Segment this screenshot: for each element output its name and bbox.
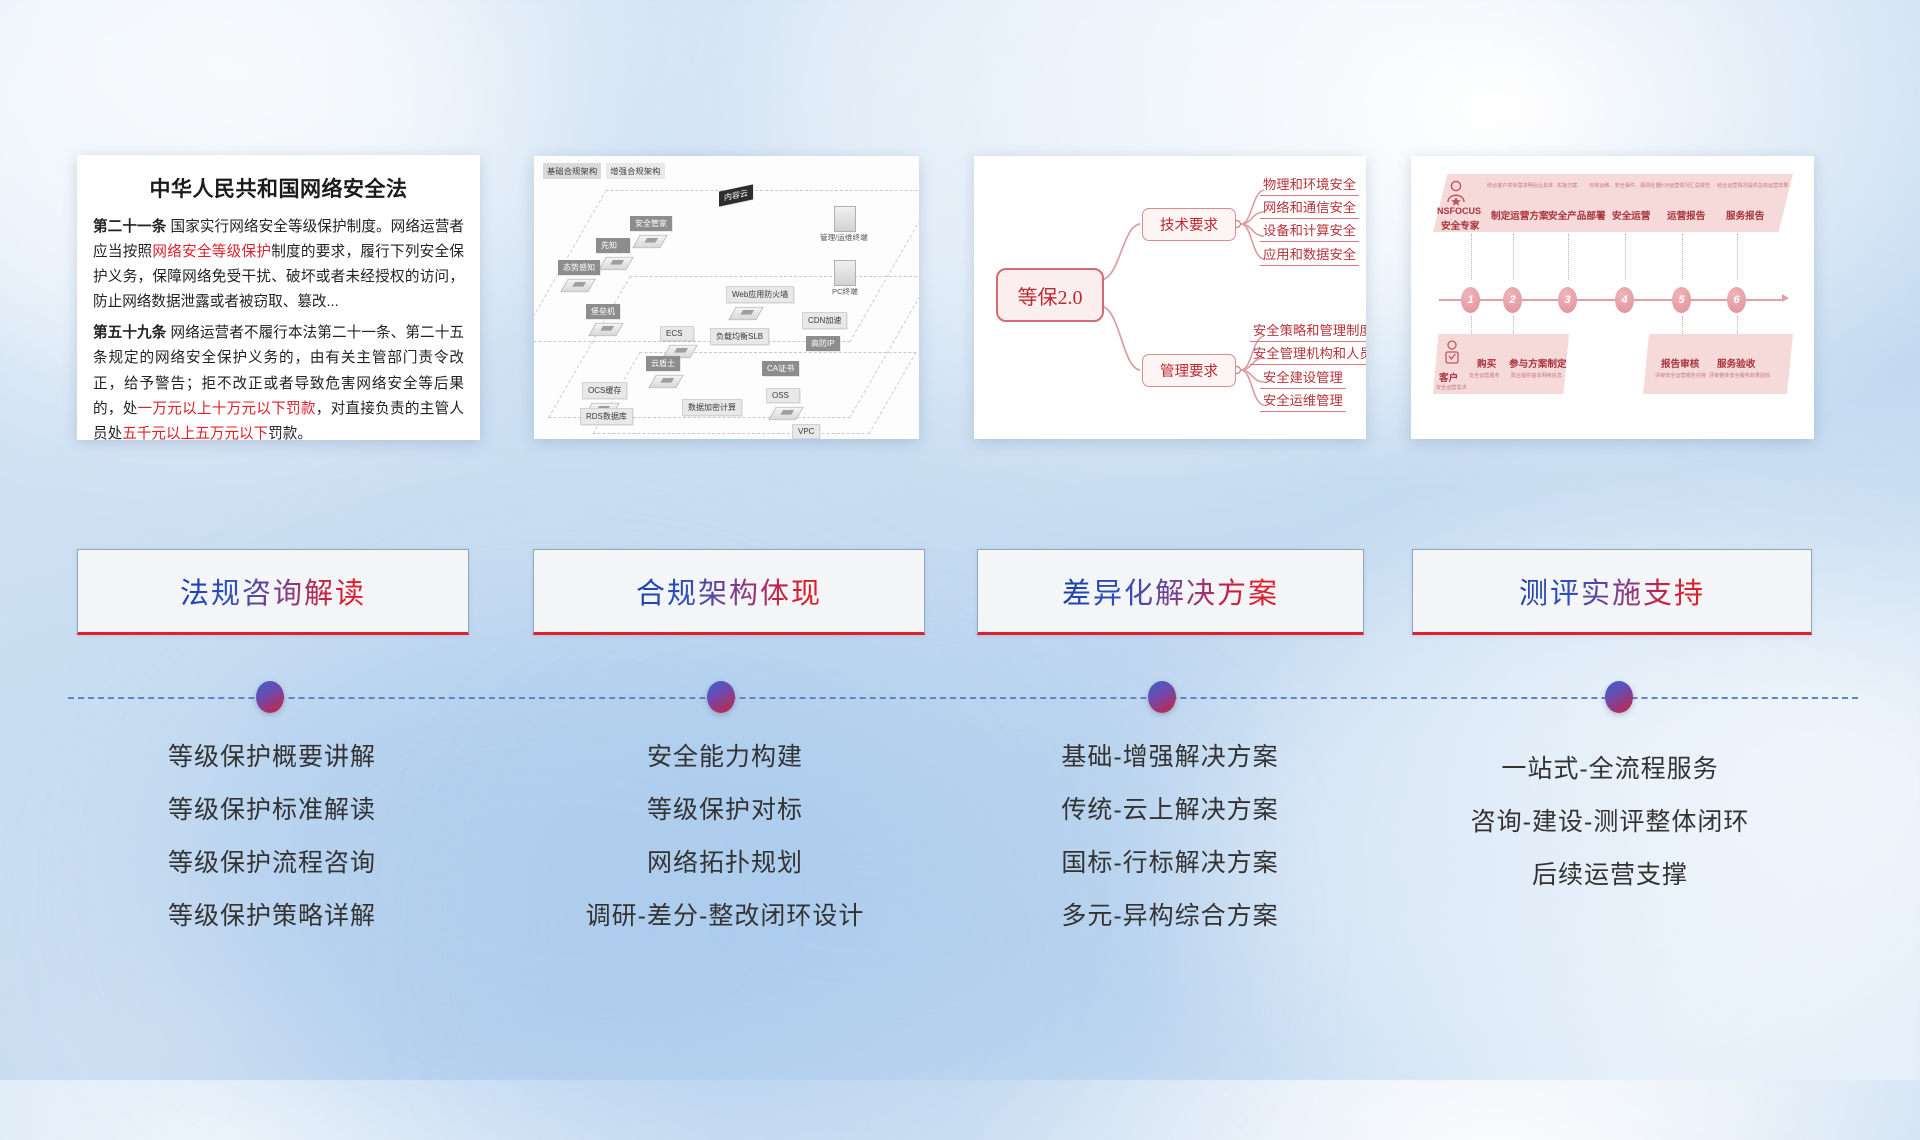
list-item: 多元-异构综合方案: [940, 904, 1400, 929]
headline-label: 合规架构体现: [636, 570, 822, 612]
timeline-marker-1[interactable]: [256, 681, 284, 713]
list-item: 后续运营支撑: [1400, 863, 1820, 888]
list-item: 国标-行标解决方案: [940, 851, 1400, 876]
column-list-4: 一站式-全流程服务 咨询-建设-测评整体闭环 后续运营支撑: [1400, 757, 1820, 916]
headline-label: 差异化解决方案: [1062, 570, 1279, 612]
list-item: 咨询-建设-测评整体闭环: [1400, 810, 1820, 835]
timeline-marker-4[interactable]: [1605, 681, 1633, 713]
headline-label: 测评实施支持: [1519, 570, 1705, 612]
timeline-marker-2[interactable]: [707, 681, 735, 713]
list-item: 等级保护概要讲解: [77, 745, 467, 770]
headline-label: 法规咨询解读: [180, 570, 366, 612]
slide-stage: 中华人民共和国网络安全法 第二十一条 国家实行网络安全等级保护制度。网络运营者应…: [0, 0, 1920, 1080]
list-item: 传统-云上解决方案: [940, 798, 1400, 823]
headline-row: 法规咨询解读 合规架构体现 差异化解决方案 测评实施支持 等级保护概要讲解 等级…: [0, 0, 1920, 1080]
timeline-marker-3[interactable]: [1148, 681, 1176, 713]
list-item: 调研-差分-整改闭环设计: [500, 904, 950, 929]
list-item: 等级保护标准解读: [77, 798, 467, 823]
list-item: 等级保护流程咨询: [77, 851, 467, 876]
list-item: 基础-增强解决方案: [940, 745, 1400, 770]
list-item: 等级保护策略详解: [77, 904, 467, 929]
headline-box-1[interactable]: 法规咨询解读: [77, 549, 469, 635]
column-list-2: 安全能力构建 等级保护对标 网络拓扑规划 调研-差分-整改闭环设计: [500, 745, 950, 957]
column-list-3: 基础-增强解决方案 传统-云上解决方案 国标-行标解决方案 多元-异构综合方案: [940, 745, 1400, 957]
headline-box-3[interactable]: 差异化解决方案: [977, 549, 1364, 635]
list-item: 安全能力构建: [500, 745, 950, 770]
list-item: 一站式-全流程服务: [1400, 757, 1820, 782]
list-item: 网络拓扑规划: [500, 851, 950, 876]
list-item: 等级保护对标: [500, 798, 950, 823]
timeline-dashed-line: [68, 697, 1858, 699]
column-list-1: 等级保护概要讲解 等级保护标准解读 等级保护流程咨询 等级保护策略详解: [77, 745, 467, 957]
headline-box-2[interactable]: 合规架构体现: [533, 549, 925, 635]
headline-box-4[interactable]: 测评实施支持: [1412, 549, 1812, 635]
